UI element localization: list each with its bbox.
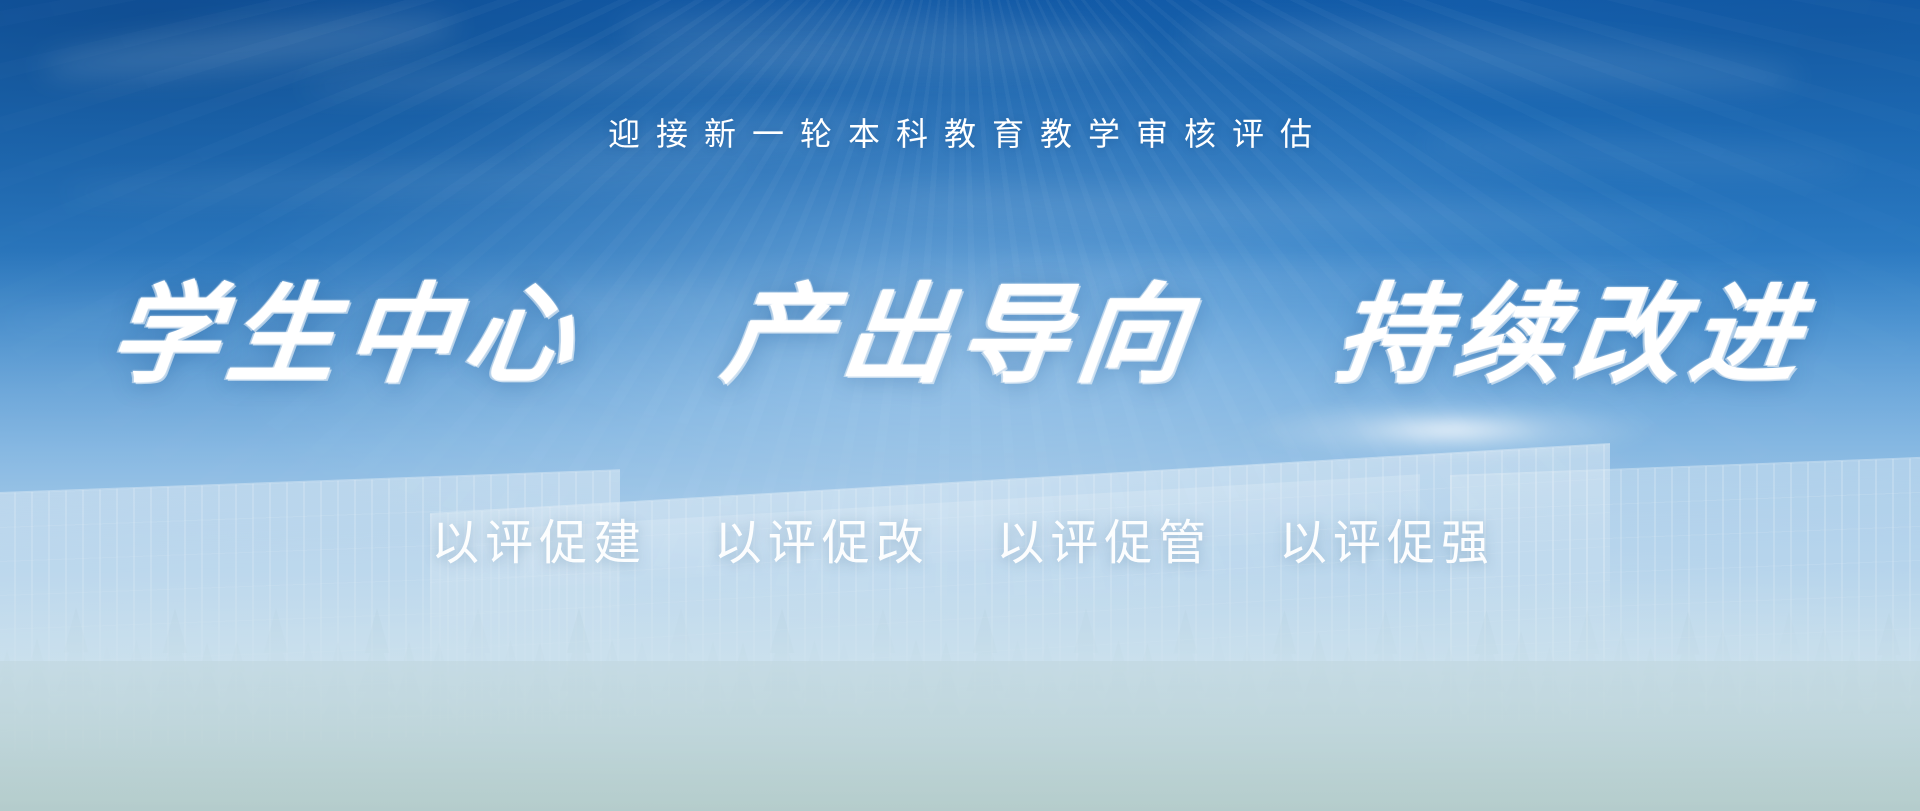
headline-slogan: 学生中心 产出导向 持续改进 [0, 272, 1920, 399]
campus-evaluation-banner: 迎接新一轮本科教育教学审核评估 学生中心 产出导向 持续改进 以评促建 以评促改… [0, 0, 1920, 811]
bottom-slogan-part-2: 以评促改 [714, 515, 930, 571]
banner-text-layer: 迎接新一轮本科教育教学审核评估 学生中心 产出导向 持续改进 以评促建 以评促改… [0, 0, 1920, 811]
headline-part-1: 学生中心 [103, 272, 590, 398]
top-slogan: 迎接新一轮本科教育教学审核评估 [0, 114, 1920, 154]
headline-part-2: 产出导向 [716, 272, 1203, 398]
bottom-slogan-part-3: 以评促管 [996, 515, 1212, 571]
headline-part-3: 持续改进 [1330, 272, 1817, 398]
bottom-slogan-part-1: 以评促建 [431, 515, 647, 571]
bottom-slogan: 以评促建 以评促改 以评促管 以评促强 [0, 512, 1920, 574]
bottom-slogan-part-4: 以评促强 [1279, 515, 1495, 571]
